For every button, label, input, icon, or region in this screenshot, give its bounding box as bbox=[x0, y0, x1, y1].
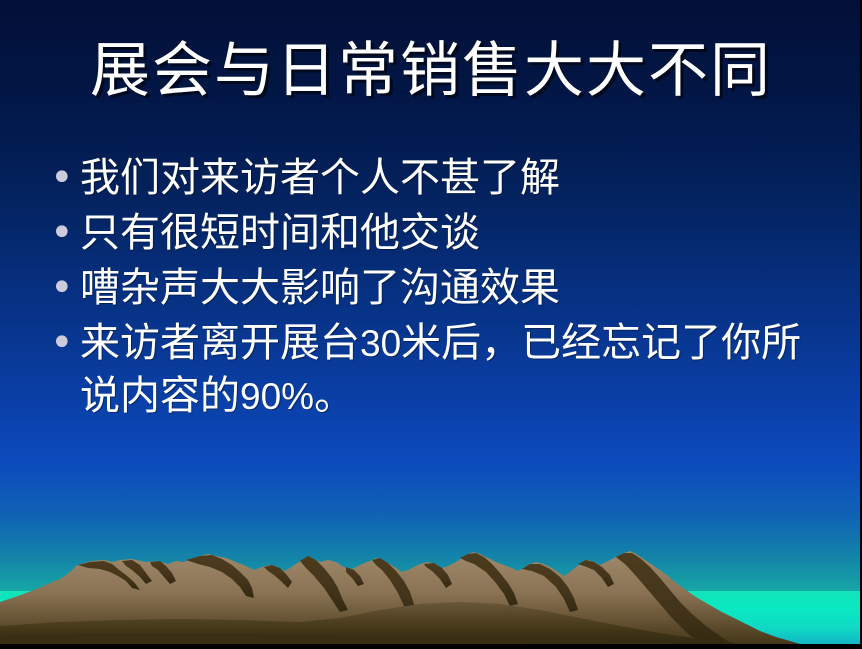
slide-bottom-edge bbox=[0, 644, 862, 649]
bullet-text: 我们对来访者个人不甚了解 bbox=[80, 152, 830, 204]
bullet-dot-icon: • bbox=[40, 207, 80, 259]
slide-title: 展会与日常销售大大不同 bbox=[0, 36, 862, 106]
bullet-dot-icon: • bbox=[40, 317, 80, 369]
list-item[interactable]: • 来访者离开展台30米后，已经忘记了你所说内容的90%。 bbox=[40, 317, 830, 423]
mountain-range-graphic bbox=[0, 540, 860, 644]
text-run: 来访者离开展台 bbox=[80, 320, 360, 365]
bullet-text: 来访者离开展台30米后，已经忘记了你所说内容的90%。 bbox=[80, 317, 830, 423]
bullet-dot-icon: • bbox=[40, 262, 80, 314]
bullet-dot-icon: • bbox=[40, 152, 80, 204]
bullet-text: 只有很短时间和他交谈 bbox=[80, 207, 830, 259]
text-run: 。 bbox=[314, 373, 354, 418]
slide-body-bullet-list: • 我们对来访者个人不甚了解 • 只有很短时间和他交谈 • 嘈杂声大大影响了沟通… bbox=[40, 152, 830, 426]
numeric-run: 90% bbox=[240, 376, 314, 417]
bullet-text: 嘈杂声大大影响了沟通效果 bbox=[80, 262, 830, 314]
list-item[interactable]: • 只有很短时间和他交谈 bbox=[40, 207, 830, 259]
numeric-run: 30 bbox=[360, 323, 401, 364]
list-item[interactable]: • 我们对来访者个人不甚了解 bbox=[40, 152, 830, 204]
list-item[interactable]: • 嘈杂声大大影响了沟通效果 bbox=[40, 262, 830, 314]
presentation-slide: 展会与日常销售大大不同 • 我们对来访者个人不甚了解 • 只有很短时间和他交谈 … bbox=[0, 0, 862, 649]
